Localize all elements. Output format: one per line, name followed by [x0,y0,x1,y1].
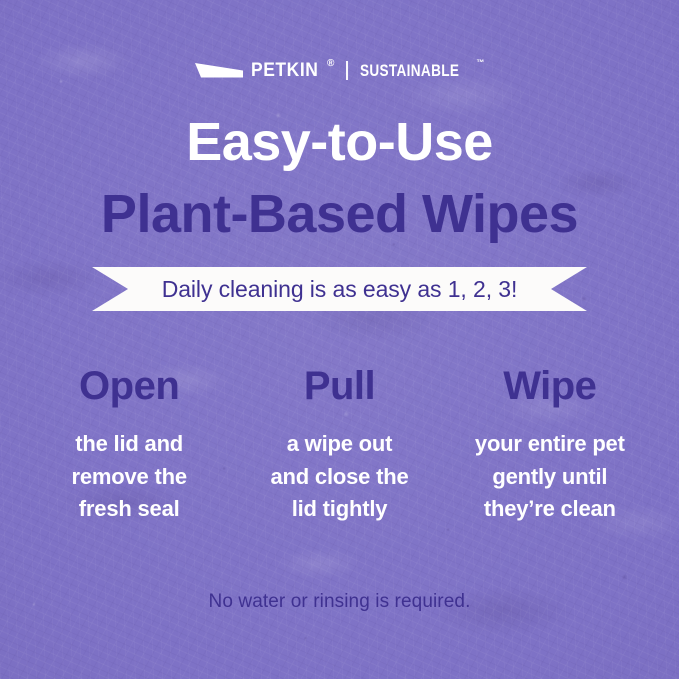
footnote-text: No water or rinsing is required. [0,592,679,611]
ribbon-text: Daily cleaning is as easy as 1, 2, 3! [162,278,518,301]
step-body: the lid andremove thefresh seal [28,428,230,526]
step-title: Open [28,366,230,406]
step-title: Wipe [449,366,651,406]
headline-block: Easy-to-Use Plant-Based Wipes [0,114,679,242]
registered-trademark-icon: ® [327,59,334,69]
step-body: your entire petgently untilthey’re clean [449,428,651,526]
brand-divider [346,61,348,80]
step-title: Pull [238,366,440,406]
headline-line-1: Easy-to-Use [0,114,679,170]
petkin-arrow-icon [195,62,243,78]
brand-lockup: PETKIN ® SUSTAINABLE ™ [0,58,679,82]
product-info-poster: PETKIN ® SUSTAINABLE ™ Easy-to-Use Plant… [0,0,679,679]
steps-row: Open the lid andremove thefresh seal Pul… [24,366,655,526]
trademark-icon: ™ [476,59,484,67]
brand-name: PETKIN [251,61,318,80]
headline-line-2: Plant-Based Wipes [0,186,679,242]
ribbon-banner: Daily cleaning is as easy as 1, 2, 3! [92,267,587,311]
step-item-open: Open the lid andremove thefresh seal [24,366,234,526]
brand-sustainable-label: SUSTAINABLE [360,62,459,79]
step-item-wipe: Wipe your entire petgently untilthey’re … [445,366,655,526]
step-item-pull: Pull a wipe outand close thelid tightly [234,366,444,526]
step-body: a wipe outand close thelid tightly [238,428,440,526]
poster-content: PETKIN ® SUSTAINABLE ™ Easy-to-Use Plant… [0,0,679,679]
